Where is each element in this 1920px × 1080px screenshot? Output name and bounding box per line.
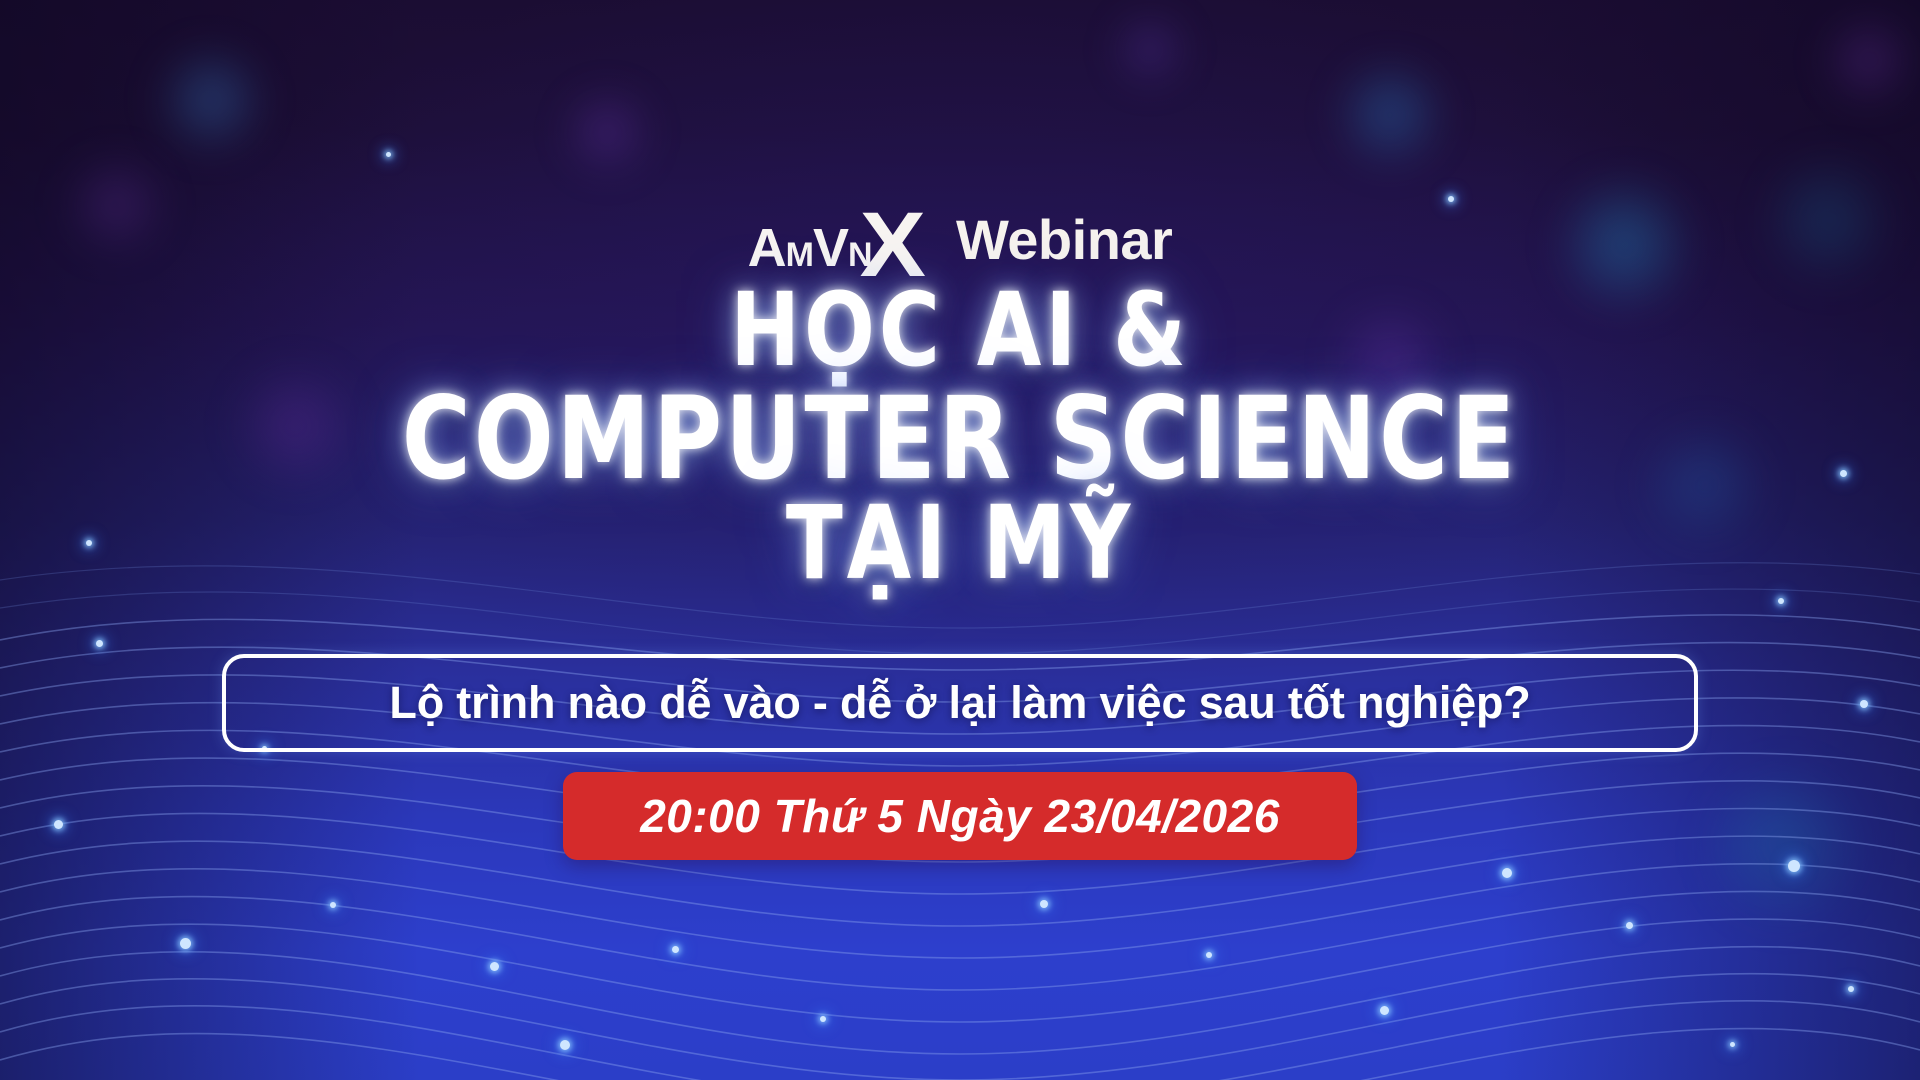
logo-letter-v: V [813,221,848,275]
webinar-poster: AMVNX Webinar HỌC AI & COMPUTER SCIENCE … [0,0,1920,1080]
headline-line-1: HỌC AI & [29,280,1891,381]
logo-row: AMVNX Webinar [0,196,1920,282]
date-badge-text: 20:00 Thứ 5 Ngày 23/04/2026 [640,789,1280,843]
amvnx-logo: AMVNX [748,203,922,275]
date-badge: 20:00 Thứ 5 Ngày 23/04/2026 [563,772,1357,860]
subtitle-text: Lộ trình nào dễ vào - dễ ở lại làm việc … [389,677,1530,729]
logo-letter-m: M [786,238,813,272]
headline-line-3: TẠI MỸ [29,493,1891,594]
headline: HỌC AI & COMPUTER SCIENCE TẠI MỸ [0,288,1920,587]
subtitle-box: Lộ trình nào dễ vào - dễ ở lại làm việc … [222,654,1698,752]
logo-letter-x: X [859,213,924,277]
headline-line-2: COMPUTER SCIENCE [29,381,1891,495]
poster-content: AMVNX Webinar HỌC AI & COMPUTER SCIENCE … [0,0,1920,1080]
logo-letter-a: A [748,221,786,275]
webinar-kicker: Webinar [956,207,1172,272]
